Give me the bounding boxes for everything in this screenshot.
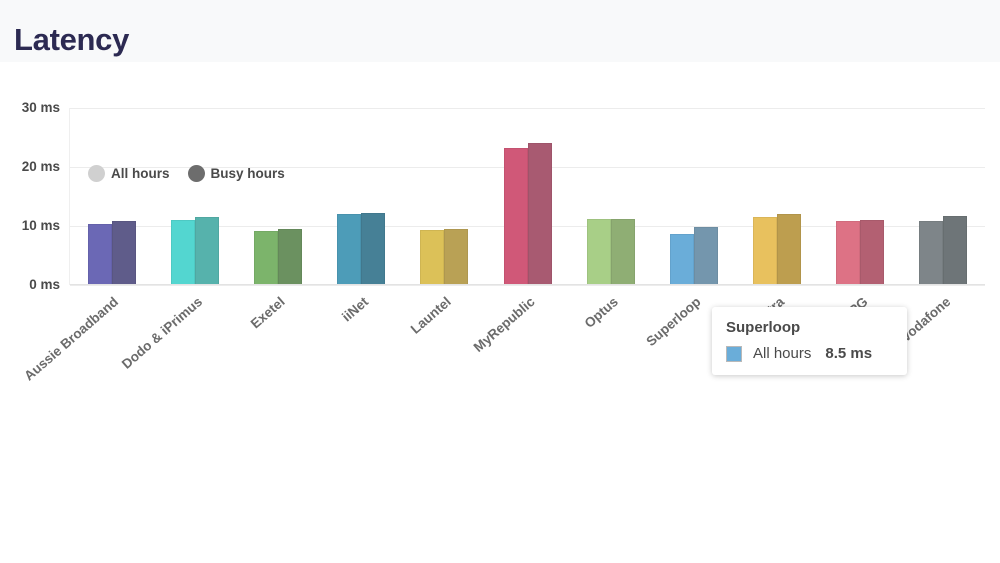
bar[interactable] [611,219,635,284]
x-axis-label-cell: Vodafone [902,288,985,408]
bar[interactable] [444,229,468,284]
legend-dot-busy-hours [188,165,205,182]
x-axis-baseline [70,284,985,285]
x-axis-tick-label: Superloop [644,294,704,349]
bar[interactable] [919,221,943,284]
legend-item-busy-hours[interactable]: Busy hours [188,165,285,182]
x-axis-tick-label: Exetel [248,294,288,331]
bar-group[interactable] [153,107,236,284]
bar-group[interactable] [236,107,319,284]
bar-group[interactable] [652,107,735,284]
x-axis-label-cell: MyRepublic [486,288,569,408]
bar[interactable] [943,216,967,284]
bar[interactable] [836,221,860,284]
bar-group[interactable] [569,107,652,284]
y-axis-tick-label: 30 ms [0,100,60,115]
x-axis-tick-label: Optus [581,294,620,331]
bar[interactable] [504,148,528,284]
bar[interactable] [777,214,801,284]
bar[interactable] [278,229,302,284]
bar-group[interactable] [320,107,403,284]
bar-group[interactable] [736,107,819,284]
bar[interactable] [670,234,694,284]
tooltip-row: All hours 8.5 ms [726,345,893,362]
bar-group[interactable] [902,107,985,284]
legend-label-all-hours: All hours [111,166,170,181]
x-axis-label-cell: Optus [569,288,652,408]
bar[interactable] [420,230,444,284]
bar-groups [70,107,985,284]
bar-group[interactable] [819,107,902,284]
y-axis-tick-label: 10 ms [0,218,60,233]
chart-page: Latency 0 ms10 ms20 ms30 ms All hours Bu… [0,0,1000,563]
bar[interactable] [694,227,718,284]
x-axis-tick-label: iiNet [339,294,371,325]
bar-group[interactable] [403,107,486,284]
bar[interactable] [171,220,195,284]
bar[interactable] [337,214,361,284]
chart-legend: All hours Busy hours [88,165,285,182]
bar[interactable] [361,213,385,284]
chart-tooltip: Superloop All hours 8.5 ms [712,307,907,375]
bar[interactable] [254,231,278,284]
legend-dot-all-hours [88,165,105,182]
x-axis-tick-label: Launtel [408,294,454,337]
tooltip-title: Superloop [726,319,893,336]
bar-group[interactable] [70,107,153,284]
bar-group[interactable] [486,107,569,284]
bar[interactable] [528,143,552,284]
x-axis-label-cell: Dodo & iPrimus [153,288,236,408]
plot-area: 0 ms10 ms20 ms30 ms [70,108,985,285]
bar[interactable] [112,221,136,284]
x-axis-label-cell: Exetel [236,288,319,408]
legend-label-busy-hours: Busy hours [211,166,285,181]
bar[interactable] [88,224,112,284]
tooltip-series-label: All hours [753,345,811,362]
bar[interactable] [195,217,219,284]
tooltip-value: 8.5 ms [825,345,872,362]
bar[interactable] [587,219,611,284]
y-axis-tick-label: 0 ms [0,277,60,292]
legend-item-all-hours[interactable]: All hours [88,165,170,182]
y-axis-tick-label: 20 ms [0,159,60,174]
gridline [70,285,985,286]
bar[interactable] [860,220,884,284]
page-title: Latency [14,22,129,58]
bar[interactable] [753,217,777,284]
x-axis-label-cell: iiNet [320,288,403,408]
tooltip-color-swatch [726,346,742,362]
